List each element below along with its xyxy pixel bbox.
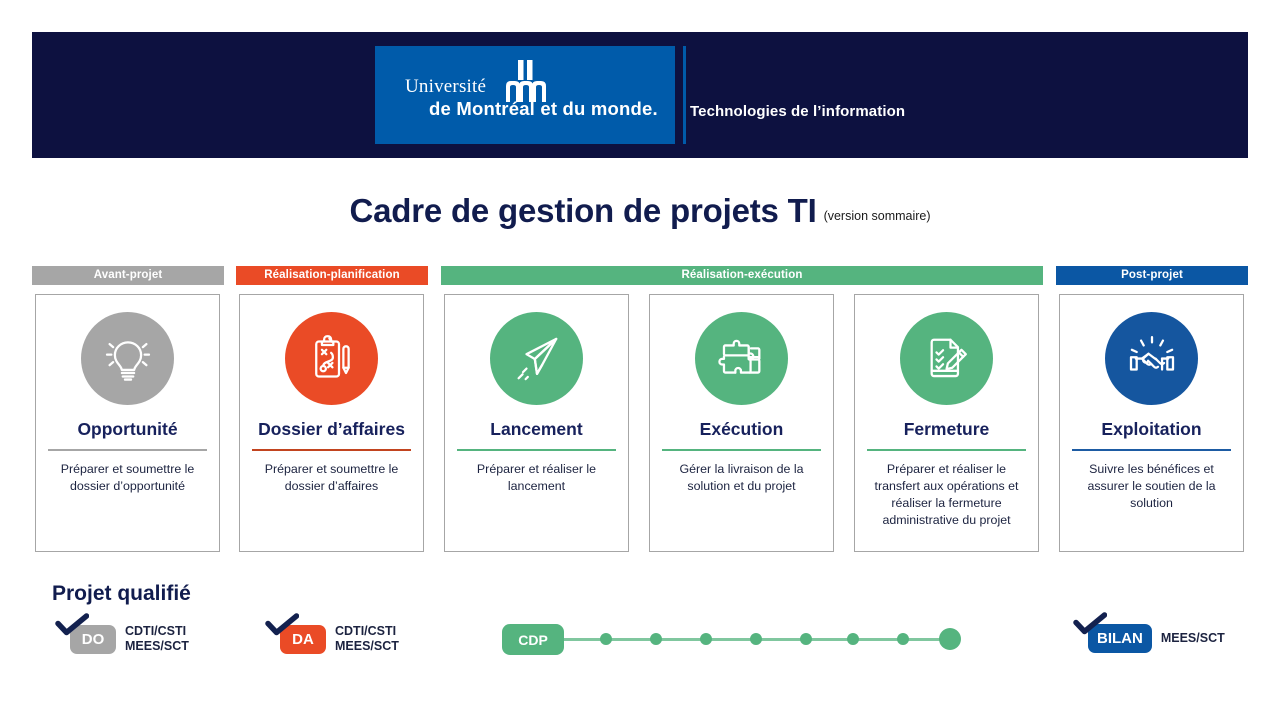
card-description: Préparer et soumettre le dossier d’affai… xyxy=(250,461,413,495)
gate-do[interactable]: DO CDTI/CSTIMEES/SCT xyxy=(70,624,189,654)
card-title: Opportunité xyxy=(36,419,219,440)
gate-label-line1: CDTI/CSTI xyxy=(335,624,399,639)
card-icon-wrap xyxy=(36,312,219,405)
card-title: Lancement xyxy=(445,419,628,440)
handshake-icon xyxy=(1105,312,1198,405)
card-rule xyxy=(867,449,1026,451)
gate-label-line1: MEES/SCT xyxy=(1161,631,1225,646)
phase-card-4[interactable]: ExécutionGérer la livraison de la soluti… xyxy=(649,294,834,552)
cdp-dot xyxy=(897,633,909,645)
cdp-timeline: CDP xyxy=(502,623,958,655)
card-rule xyxy=(252,449,411,451)
gate-label: CDTI/CSTIMEES/SCT xyxy=(335,624,399,654)
banner-divider xyxy=(683,46,686,144)
phase-bar-label: Réalisation-exécution xyxy=(682,269,803,281)
cdp-dot xyxy=(800,633,812,645)
check-icon xyxy=(1073,611,1107,641)
card-title: Dossier d’affaires xyxy=(240,419,423,440)
card-description: Préparer et réaliser le lancement xyxy=(455,461,618,495)
phase-bar-3: Réalisation-exécution xyxy=(441,266,1043,285)
gate-da[interactable]: DA CDTI/CSTIMEES/SCT xyxy=(280,624,399,654)
gate-label: CDTI/CSTIMEES/SCT xyxy=(125,624,189,654)
gate-label-line2: MEES/SCT xyxy=(335,639,399,654)
udem-logo-line1: Université xyxy=(405,76,486,98)
card-rule xyxy=(1072,449,1231,451)
card-icon-wrap xyxy=(855,312,1038,405)
udem-logo-block: Université de Montréal et du monde. xyxy=(375,46,675,144)
header-banner: Université de Montréal et du monde. Tech… xyxy=(32,32,1248,158)
card-icon-wrap xyxy=(1060,312,1243,405)
card-rule xyxy=(662,449,821,451)
phase-card-6[interactable]: ExploitationSuivre les bénéfices et assu… xyxy=(1059,294,1244,552)
phase-bar-2: Réalisation-planification xyxy=(236,266,428,285)
card-icon-wrap xyxy=(240,312,423,405)
paper-plane-icon xyxy=(490,312,583,405)
card-description: Gérer la livraison de la solution et du … xyxy=(660,461,823,495)
cdp-dot xyxy=(847,633,859,645)
phase-bar-label: Réalisation-planification xyxy=(264,269,399,281)
checklist-pencil-icon xyxy=(900,312,993,405)
banner-subtitle: Technologies de l’information xyxy=(690,103,905,120)
cdp-dot xyxy=(700,633,712,645)
card-icon-wrap xyxy=(445,312,628,405)
lightbulb-icon xyxy=(81,312,174,405)
card-icon-wrap xyxy=(650,312,833,405)
cdp-dot xyxy=(650,633,662,645)
card-description: Préparer et réaliser le transfert aux op… xyxy=(865,461,1028,529)
page-title-row: Cadre de gestion de projets TI(version s… xyxy=(0,192,1280,230)
gate-label: MEES/SCT xyxy=(1161,631,1225,646)
gate-bilan[interactable]: BILAN MEES/SCT xyxy=(1088,624,1225,653)
card-rule xyxy=(457,449,616,451)
cdp-dot xyxy=(600,633,612,645)
card-title: Exécution xyxy=(650,419,833,440)
phase-bar-label: Avant-projet xyxy=(94,269,163,281)
card-description: Suivre les bénéfices et assurer le souti… xyxy=(1070,461,1233,512)
card-title: Fermeture xyxy=(855,419,1038,440)
phase-card-5[interactable]: FermeturePréparer et réaliser le transfe… xyxy=(854,294,1039,552)
cdp-pill: CDP xyxy=(502,624,564,655)
page-title: Cadre de gestion de projets TI xyxy=(349,192,816,229)
card-rule xyxy=(48,449,207,451)
udem-building-mark-icon xyxy=(503,60,549,102)
gate-label-line2: MEES/SCT xyxy=(125,639,189,654)
puzzle-pieces-icon xyxy=(695,312,788,405)
phase-card-1[interactable]: OpportunitéPréparer et soumettre le doss… xyxy=(35,294,220,552)
check-icon xyxy=(55,612,89,642)
page-title-note: (version sommaire) xyxy=(824,209,931,223)
qualified-project-heading: Projet qualifié xyxy=(52,582,191,606)
cdp-dot-end xyxy=(939,628,961,650)
phase-bar-4: Post-projet xyxy=(1056,266,1248,285)
cdp-dot xyxy=(750,633,762,645)
phase-card-2[interactable]: Dossier d’affairesPréparer et soumettre … xyxy=(239,294,424,552)
gate-label-line1: CDTI/CSTI xyxy=(125,624,189,639)
phase-bar-1: Avant-projet xyxy=(32,266,224,285)
card-description: Préparer et soumettre le dossier d’oppor… xyxy=(46,461,209,495)
card-title: Exploitation xyxy=(1060,419,1243,440)
phase-card-3[interactable]: LancementPréparer et réaliser le lanceme… xyxy=(444,294,629,552)
phase-bar-label: Post-projet xyxy=(1121,269,1183,281)
clipboard-strategy-icon xyxy=(285,312,378,405)
check-icon xyxy=(265,612,299,642)
